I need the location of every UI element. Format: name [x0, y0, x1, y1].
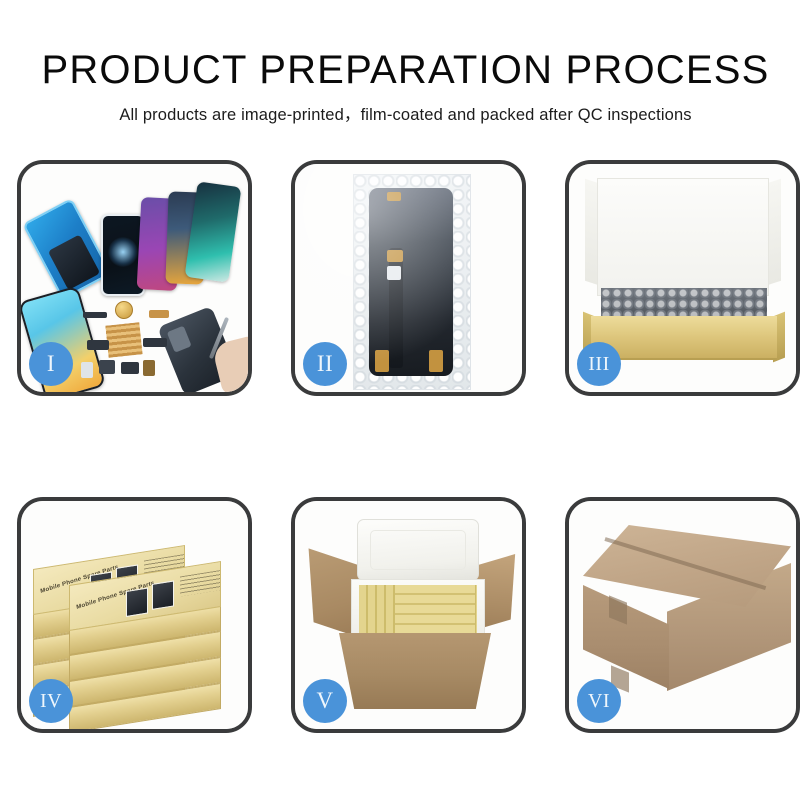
process-step-3: III [565, 160, 800, 396]
step-badge-1: I [29, 342, 73, 386]
box-lid [597, 178, 769, 296]
product-preparation-infographic: PRODUCT PREPARATION PROCESS All products… [0, 0, 811, 811]
small-part [87, 340, 109, 350]
small-part [143, 360, 155, 376]
small-part [149, 310, 169, 318]
process-step-2: II [291, 160, 526, 396]
process-step-1: I [17, 160, 252, 396]
box-spec-lines [180, 570, 220, 596]
small-part [121, 362, 139, 374]
step-badge-4: IV [29, 679, 73, 723]
box-screen-image [152, 580, 174, 609]
gold-boxes-inside [395, 585, 475, 633]
small-part [143, 338, 167, 347]
header: PRODUCT PREPARATION PROCESS All products… [0, 0, 811, 124]
logic-board-chip [105, 322, 142, 357]
outer-carton [339, 633, 491, 709]
foam-lid [357, 519, 479, 581]
process-step-grid: I II [17, 160, 800, 733]
step-badge-6: VI [577, 679, 621, 723]
blue-screen-part [22, 198, 112, 300]
process-step-4: Mobile Phone Spare Parts Mobile Phone Sp… [17, 497, 252, 733]
box-tray [591, 316, 777, 360]
step-badge-5: V [303, 679, 347, 723]
page-title: PRODUCT PREPARATION PROCESS [0, 50, 811, 90]
speaker-coil-part [115, 301, 133, 319]
page-subtitle: All products are image-printed，film-coat… [0, 107, 811, 124]
small-part [83, 312, 107, 318]
box-screen-image [126, 588, 148, 617]
process-step-5: V [291, 497, 526, 733]
step-badge-2: II [303, 342, 347, 386]
small-part [99, 360, 115, 374]
step-badge-3: III [577, 342, 621, 386]
process-step-6: VI [565, 497, 800, 733]
small-part [81, 362, 93, 378]
